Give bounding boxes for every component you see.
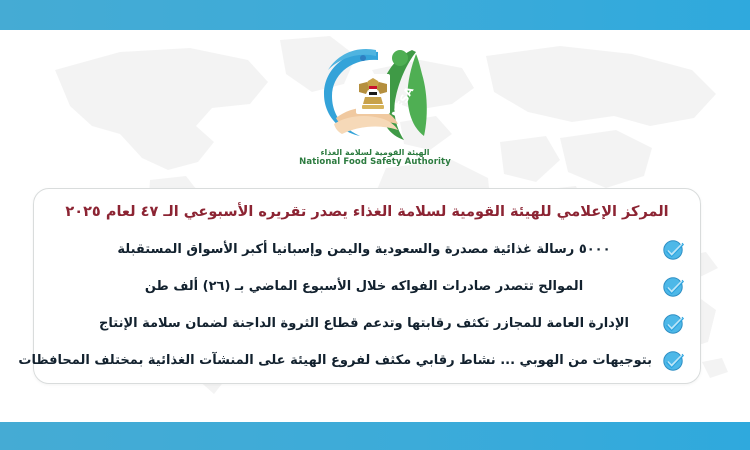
list-item: بتوجيهات من الهوبي ... نشاط رقابي مكثف ل… — [34, 342, 700, 379]
bottom-brand-bar — [0, 422, 750, 450]
logo-name-english: National Food Safety Authority — [0, 158, 750, 167]
list-item-label: الإدارة العامة للمجازر تكثف رقابتها وتدع… — [52, 316, 652, 332]
logo-wordmark: الهيئة القومية لسلامة الغذاء National Fo… — [0, 149, 750, 167]
blue-check-badge-icon — [662, 238, 686, 262]
list-item: ٥٠٠٠ رسالة غذائية مصدرة والسعودية واليمن… — [34, 231, 700, 268]
list-item-label: بتوجيهات من الهوبي ... نشاط رقابي مكثف ل… — [0, 353, 652, 369]
list-item-label: الموالح تتصدر صادرات الفواكه خلال الأسبو… — [52, 279, 652, 295]
page-title: المركز الإعلامي للهيئة القومية لسلامة ال… — [52, 203, 682, 221]
top-brand-bar — [0, 0, 750, 30]
list-item: الإدارة العامة للمجازر تكثف رقابتها وتدع… — [34, 305, 700, 342]
report-card: المركز الإعلامي للهيئة القومية لسلامة ال… — [33, 188, 701, 384]
list-item: الموالح تتصدر صادرات الفواكه خلال الأسبو… — [34, 268, 700, 305]
nfsa-logo-icon: NFSA — [316, 44, 434, 148]
bullet-list: ٥٠٠٠ رسالة غذائية مصدرة والسعودية واليمن… — [34, 231, 700, 379]
blue-check-badge-icon — [662, 312, 686, 336]
weekly-report-poster: NFSA الهيئة القومية لسلامة الغذاء Nation… — [0, 0, 750, 450]
blue-check-badge-icon — [662, 275, 686, 299]
list-item-label: ٥٠٠٠ رسالة غذائية مصدرة والسعودية واليمن… — [52, 242, 652, 258]
blue-check-badge-icon — [662, 349, 686, 373]
logo-block: NFSA الهيئة القومية لسلامة الغذاء Nation… — [0, 44, 750, 167]
